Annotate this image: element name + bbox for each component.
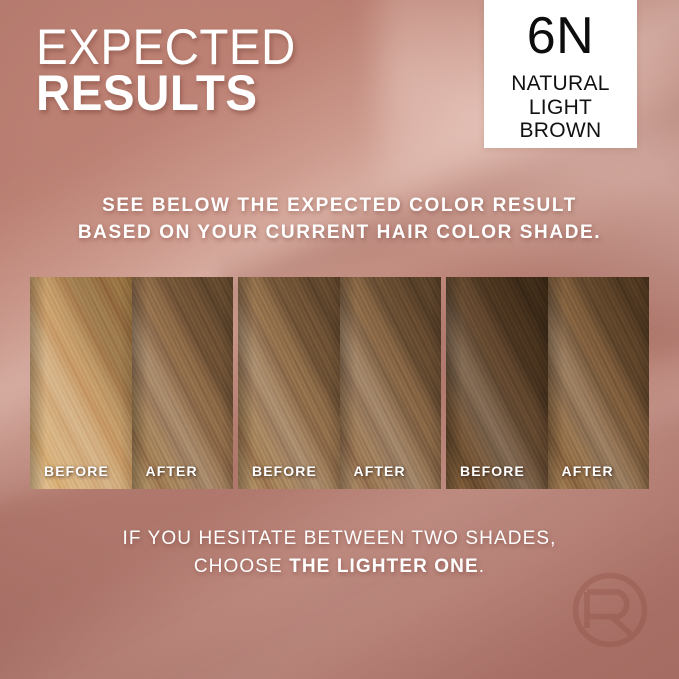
hair-edge-shadow [340, 277, 442, 489]
footnote-line-1: IF YOU HESITATE BETWEEN TWO SHADES, [0, 525, 679, 553]
loreal-monogram-icon [569, 569, 651, 651]
footnote-prefix: CHOOSE [194, 556, 289, 577]
subtitle-line-1: SEE BELOW THE EXPECTED COLOR RESULT [0, 193, 679, 220]
swatch-after-dark-brown: AFTER [548, 277, 650, 489]
swatch-before-light-blonde: BEFORE [30, 277, 132, 489]
page-title: EXPECTED RESULTS [36, 24, 310, 116]
shade-name-line-3: BROWN [511, 119, 610, 143]
swatch-after-light-blonde: AFTER [132, 277, 234, 489]
swatch-pair-dark-brown: BEFORE AFTER [446, 277, 649, 489]
swatch-label-after: AFTER [146, 463, 198, 479]
footnote-emphasis: THE LIGHTER ONE [289, 556, 479, 577]
footnote-suffix: . [479, 556, 485, 577]
page-title-line-2: RESULTS [36, 70, 296, 116]
swatch-pair-light-blonde: BEFORE AFTER [30, 277, 233, 489]
hair-edge-shadow [238, 277, 340, 489]
hair-edge-shadow [132, 277, 234, 489]
swatch-label-after: AFTER [562, 463, 614, 479]
product-info-graphic: EXPECTED RESULTS 6N NATURAL LIGHT BROWN … [0, 0, 679, 679]
swatch-after-medium-brown: AFTER [340, 277, 442, 489]
hair-edge-shadow [548, 277, 650, 489]
swatch-label-before: BEFORE [460, 463, 525, 479]
swatch-pair-medium-brown: BEFORE AFTER [238, 277, 441, 489]
page-title-line-1: EXPECTED [36, 24, 296, 70]
hair-edge-shadow [446, 277, 548, 489]
swatch-before-dark-brown: BEFORE [446, 277, 548, 489]
swatch-label-before: BEFORE [44, 463, 109, 479]
subtitle: SEE BELOW THE EXPECTED COLOR RESULT BASE… [0, 193, 679, 247]
swatch-label-before: BEFORE [252, 463, 317, 479]
shade-badge: 6N NATURAL LIGHT BROWN [484, 0, 637, 148]
hair-edge-shadow [30, 277, 132, 489]
swatch-before-medium-brown: BEFORE [238, 277, 340, 489]
shade-name-line-1: NATURAL [511, 72, 610, 96]
shade-name: NATURAL LIGHT BROWN [511, 72, 610, 143]
shade-code: 6N [527, 10, 594, 63]
shade-name-line-2: LIGHT [511, 96, 610, 120]
before-after-swatch-band: BEFORE AFTER BEFORE AFTER [30, 277, 649, 489]
subtitle-line-2: BASED ON YOUR CURRENT HAIR COLOR SHADE. [0, 220, 679, 247]
swatch-label-after: AFTER [354, 463, 406, 479]
